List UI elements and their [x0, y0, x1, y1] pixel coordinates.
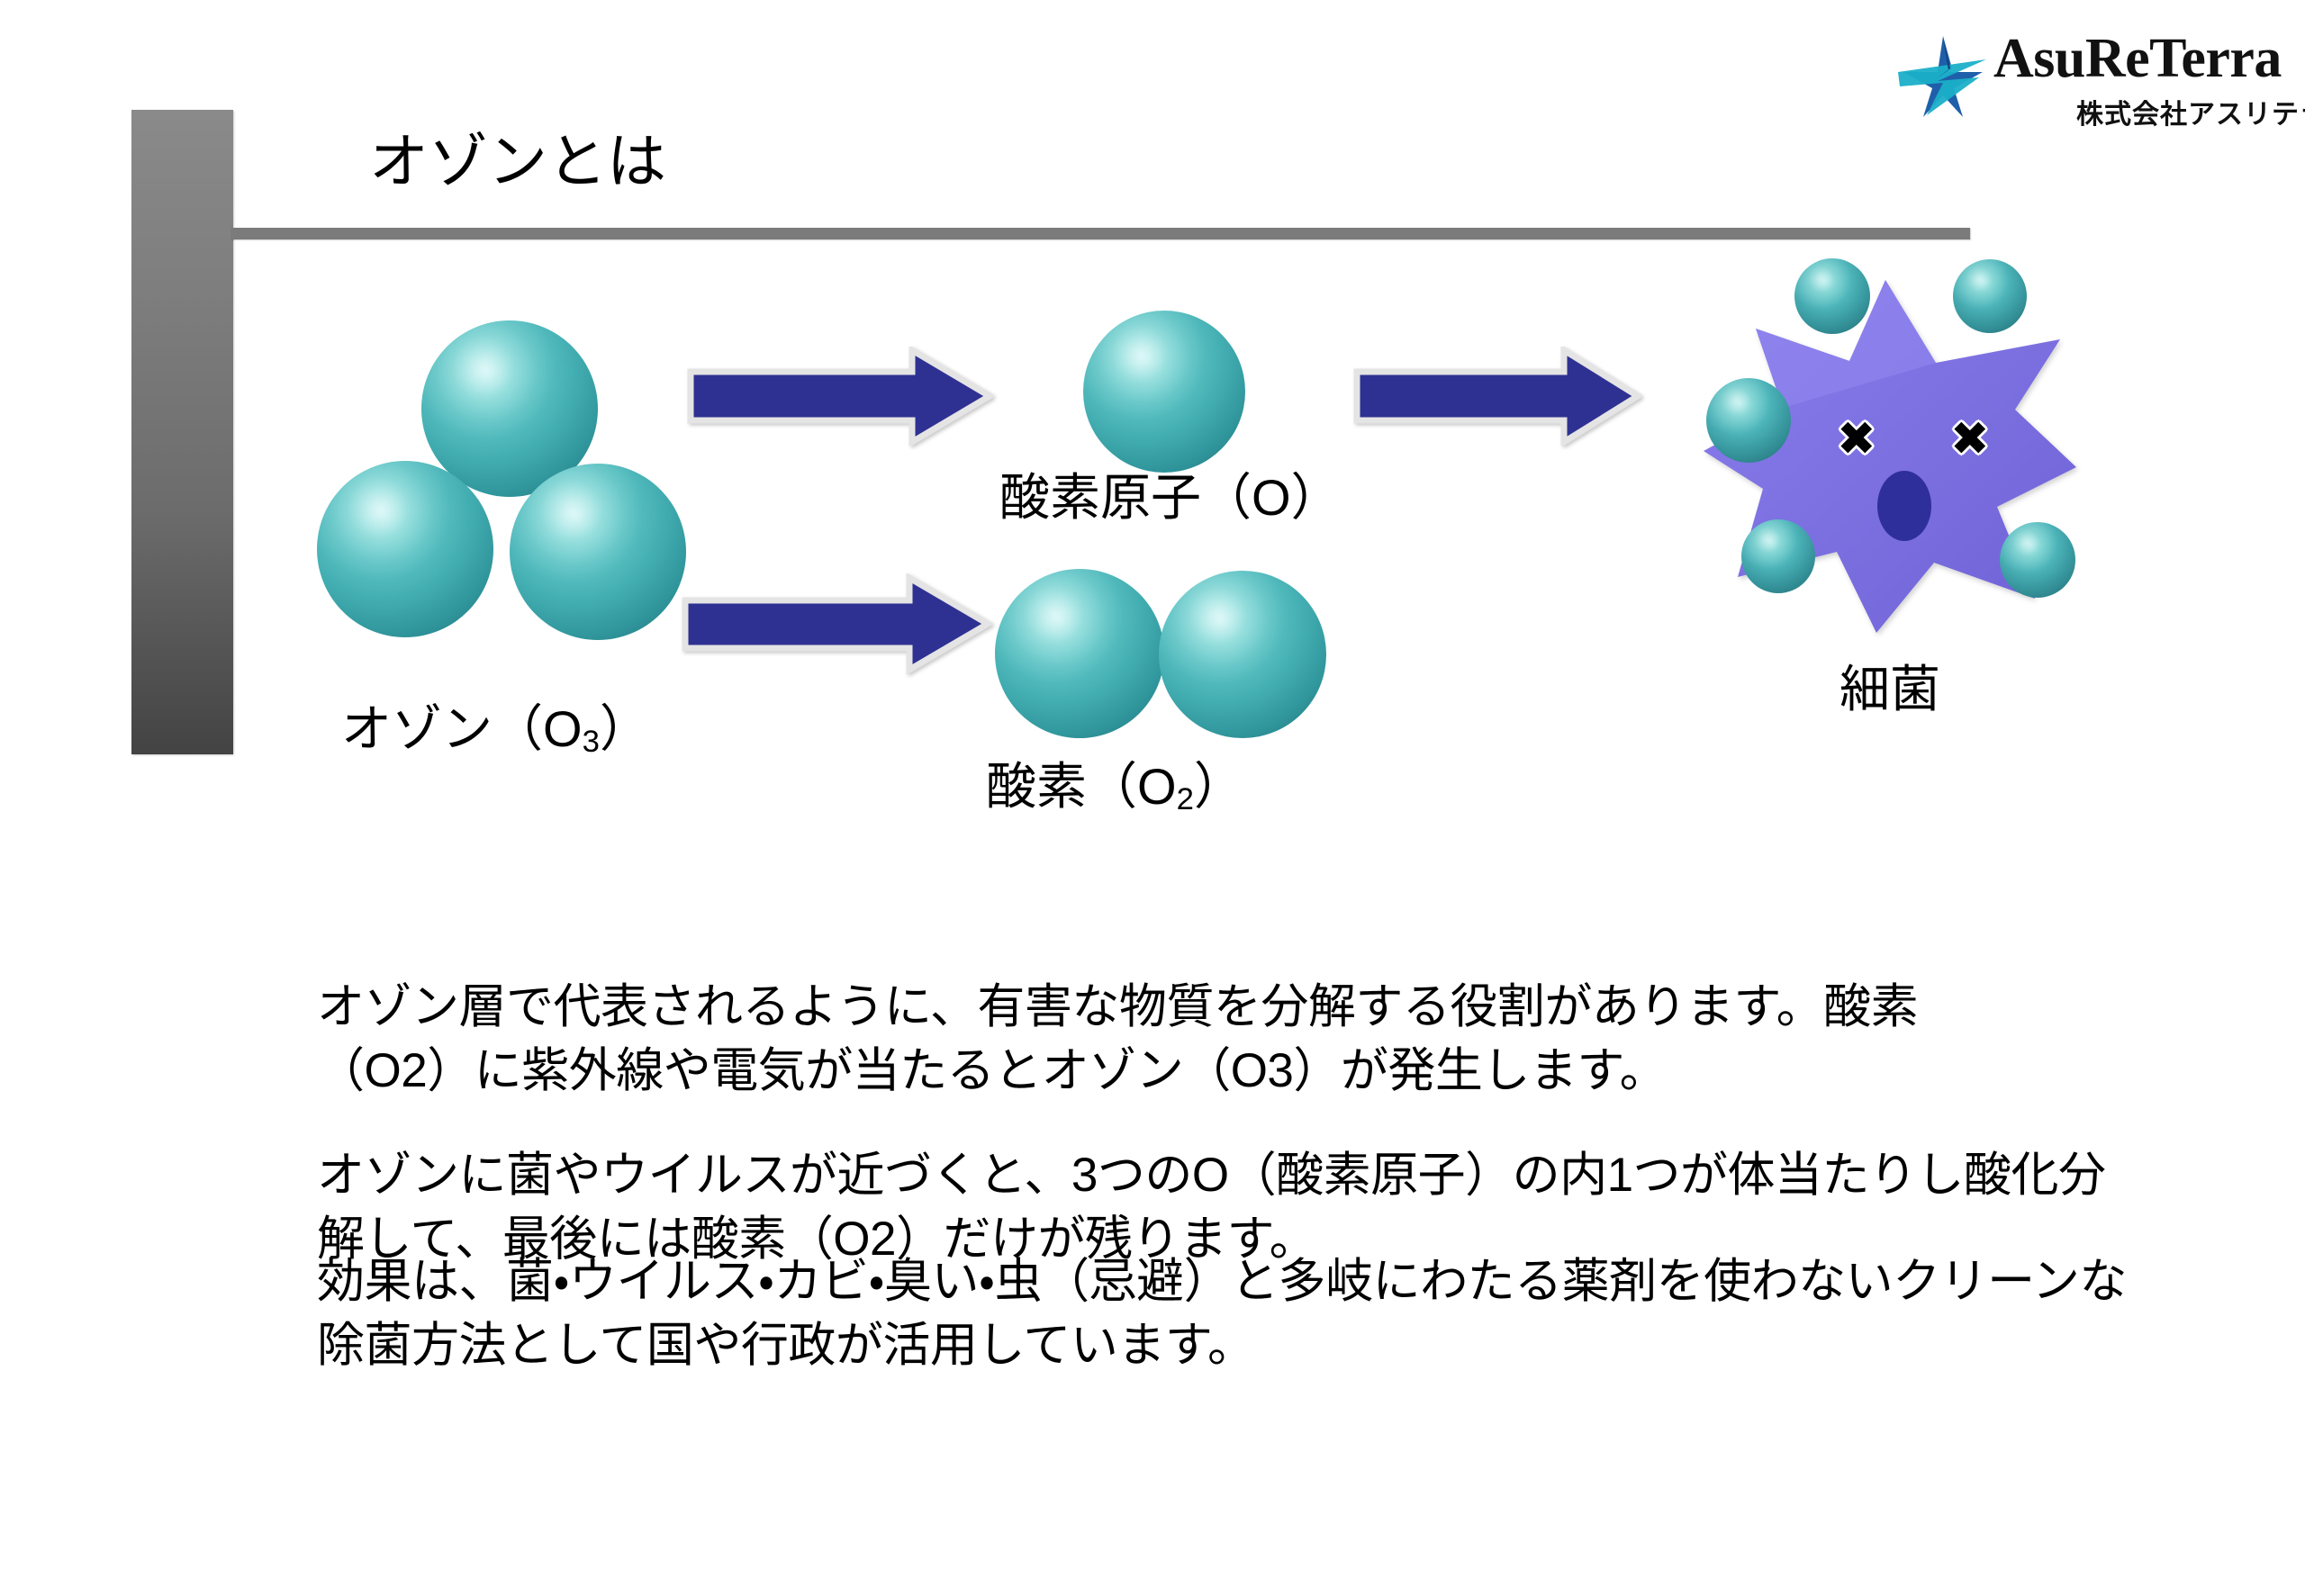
caption-bacteria: 細菌 [1839, 662, 1940, 717]
oxygen-atom-sphere [1083, 311, 1245, 473]
star-icon [1896, 32, 1990, 119]
body-paragraph-3: 効果は、菌・ウイルス・カビ・臭い・虫（忌避）と多岐にわたる薬剤を使わないクリーン… [317, 1249, 2127, 1377]
bacteria-eye-left-icon: ✖ [1837, 416, 1876, 463]
bacteria-satellite-sphere-1 [1794, 258, 1870, 334]
logo-company-name-jp: 株式会社アスリテラ [2076, 92, 2305, 131]
caption-oxygen-prefix: 酸素（ [986, 758, 1137, 815]
caption-ozone: オゾン（O3） [341, 701, 650, 757]
caption-ozone-suffix: ） [600, 700, 650, 757]
page-title: オゾンとは [369, 131, 666, 193]
caption-oxygen-atom: 酸素原子（O） [999, 470, 1342, 526]
caption-oxygen-subscript: 2 [1177, 782, 1194, 816]
body-paragraph-1: オゾン層で代表されるように、有害な物質を分解する役割があります。酸素 （O2）に… [317, 975, 1918, 1103]
arrow-ozone-to-atom-icon [687, 347, 993, 446]
bacteria-satellite-sphere-2 [1953, 259, 2027, 333]
slide-canvas: AsuReTerra 株式会社アスリテラ オゾンとは [0, 0, 2305, 1596]
oxygen-sphere-right [1159, 571, 1326, 738]
bacteria-satellite-sphere-3 [1706, 378, 1791, 463]
ozone-sphere-right [510, 464, 686, 640]
caption-ozone-prefix: オゾン（ [341, 700, 543, 757]
caption-oxygen: 酸素（O2） [986, 759, 1244, 815]
arrow-ozone-to-oxygen-icon [682, 573, 992, 674]
bacteria-eye-right-icon: ✖ [1950, 416, 1990, 463]
caption-ozone-base: O [543, 700, 583, 757]
ozone-sphere-left [317, 461, 493, 637]
logo-wordmark: AsuReTerra [1993, 27, 2282, 91]
company-logo: AsuReTerra 株式会社アスリテラ [1896, 23, 2283, 131]
title-accent-bar [131, 110, 233, 754]
caption-ozone-subscript: 3 [583, 725, 600, 759]
bacteria-mouth-icon [1877, 471, 1931, 541]
caption-oxygen-suffix: ） [1194, 758, 1244, 815]
bacteria-satellite-sphere-5 [2000, 522, 2075, 598]
arrow-atom-to-bacteria-icon [1353, 347, 1641, 446]
caption-oxygen-base: O [1137, 758, 1177, 815]
bacteria-satellite-sphere-4 [1741, 519, 1815, 593]
oxygen-sphere-left [995, 569, 1164, 738]
title-divider-rule [230, 228, 1970, 239]
